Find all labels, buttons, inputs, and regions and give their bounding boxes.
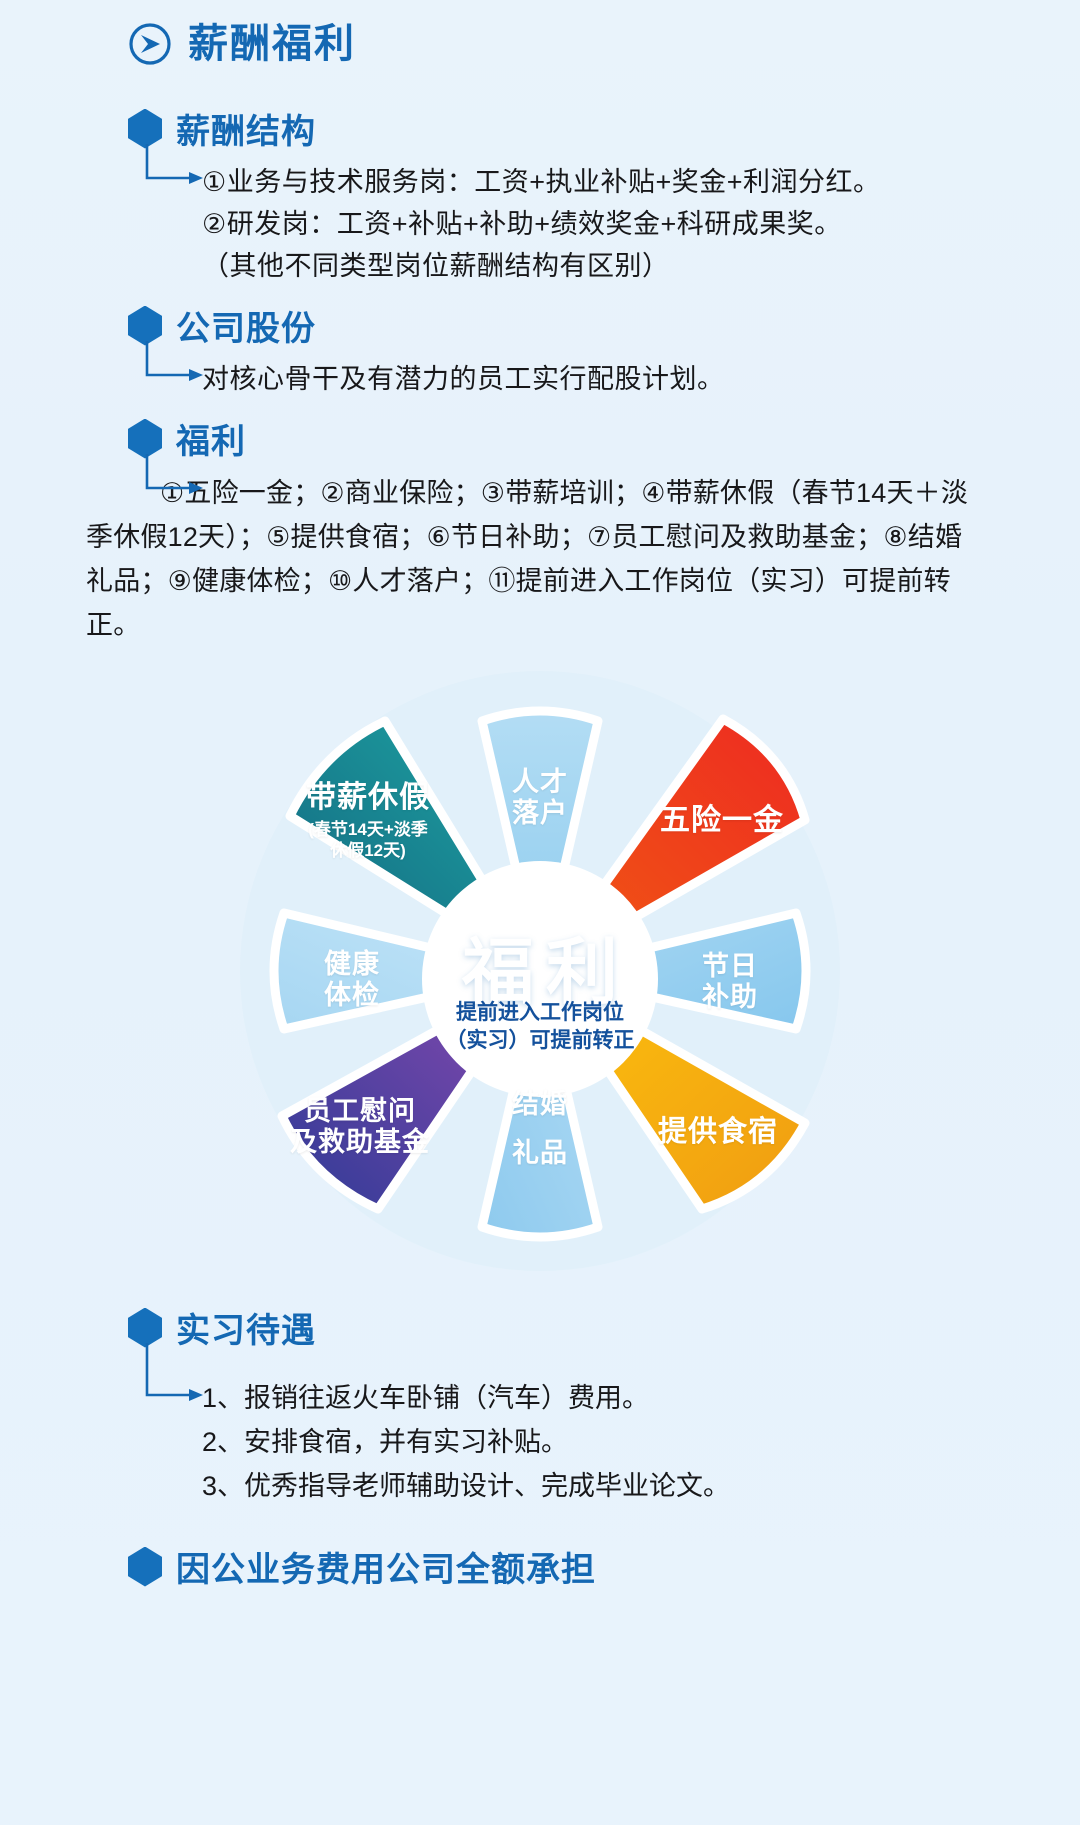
- page-title: 薪酬福利: [188, 24, 356, 64]
- hexagon-bullet-icon: [128, 109, 162, 149]
- section-header: 福利: [128, 414, 972, 463]
- section-company-shares: 公司股份 对核心骨干及有潜力的员工实行配股计划。: [0, 301, 1080, 400]
- section-title: 薪酬结构: [176, 104, 316, 153]
- benefits-paragraph: ①五险一金；②商业保险；③带薪培训；④带薪休假（春节14天＋淡季休假12天）；⑤…: [86, 471, 972, 647]
- salary-line-3: （其他不同类型岗位薪酬结构有区别）: [128, 245, 1080, 287]
- internship-item-1: 1、报销往返火车卧铺（汽车）费用。: [202, 1376, 1080, 1420]
- infographic-page: 薪酬福利 薪酬结构 ①业务与技术服务岗：工资+执业补贴+奖金+利润分红。 ②研发…: [0, 0, 1080, 1825]
- hexagon-bullet-icon: [128, 1308, 162, 1348]
- benefits-flower-diagram: 人才 落户 五险一金 节日 补助 提供食宿 结婚 礼品 员工慰问 及救助基金 健…: [0, 661, 1080, 1281]
- shares-line-1: 对核心骨干及有潜力的员工实行配股计划。: [128, 358, 1080, 400]
- hexagon-bullet-icon: [128, 1547, 162, 1587]
- circle-arrow-icon: [128, 22, 172, 66]
- section-salary-structure: 薪酬结构 ①业务与技术服务岗：工资+执业补贴+奖金+利润分红。 ②研发岗：工资+…: [0, 104, 1080, 287]
- internship-item-2: 2、安排食宿，并有实习补贴。: [202, 1420, 1080, 1464]
- section-internship: 实习待遇 1、报销往返火车卧铺（汽车）费用。 2、安排食宿，并有实习补贴。 3、…: [0, 1303, 1080, 1508]
- internship-item-3: 3、优秀指导老师辅助设计、完成毕业论文。: [202, 1464, 1080, 1508]
- main-title-row: 薪酬福利: [0, 0, 1080, 66]
- section-header: 公司股份: [128, 301, 1080, 350]
- section-business-expense: 因公业务费用公司全额承担: [0, 1542, 1080, 1591]
- hexagon-bullet-icon: [128, 306, 162, 346]
- section-header: 实习待遇: [128, 1303, 1080, 1352]
- hexagon-bullet-icon: [128, 419, 162, 459]
- diagram-center-subtitle: 提前进入工作岗位 （实习）可提前转正: [446, 999, 635, 1056]
- section-header: 薪酬结构: [128, 104, 1080, 153]
- section-title: 公司股份: [176, 301, 316, 350]
- salary-line-1: ①业务与技术服务岗：工资+执业补贴+奖金+利润分红。: [128, 161, 1080, 203]
- section-title: 实习待遇: [176, 1303, 316, 1352]
- section-title: 福利: [176, 414, 246, 463]
- salary-line-2: ②研发岗：工资+补贴+补助+绩效奖金+科研成果奖。: [128, 203, 1080, 245]
- footer-title: 因公业务费用公司全额承担: [176, 1542, 596, 1591]
- section-benefits: 福利 ①五险一金；②商业保险；③带薪培训；④带薪休假（春节14天＋淡季休假12天…: [0, 414, 1080, 647]
